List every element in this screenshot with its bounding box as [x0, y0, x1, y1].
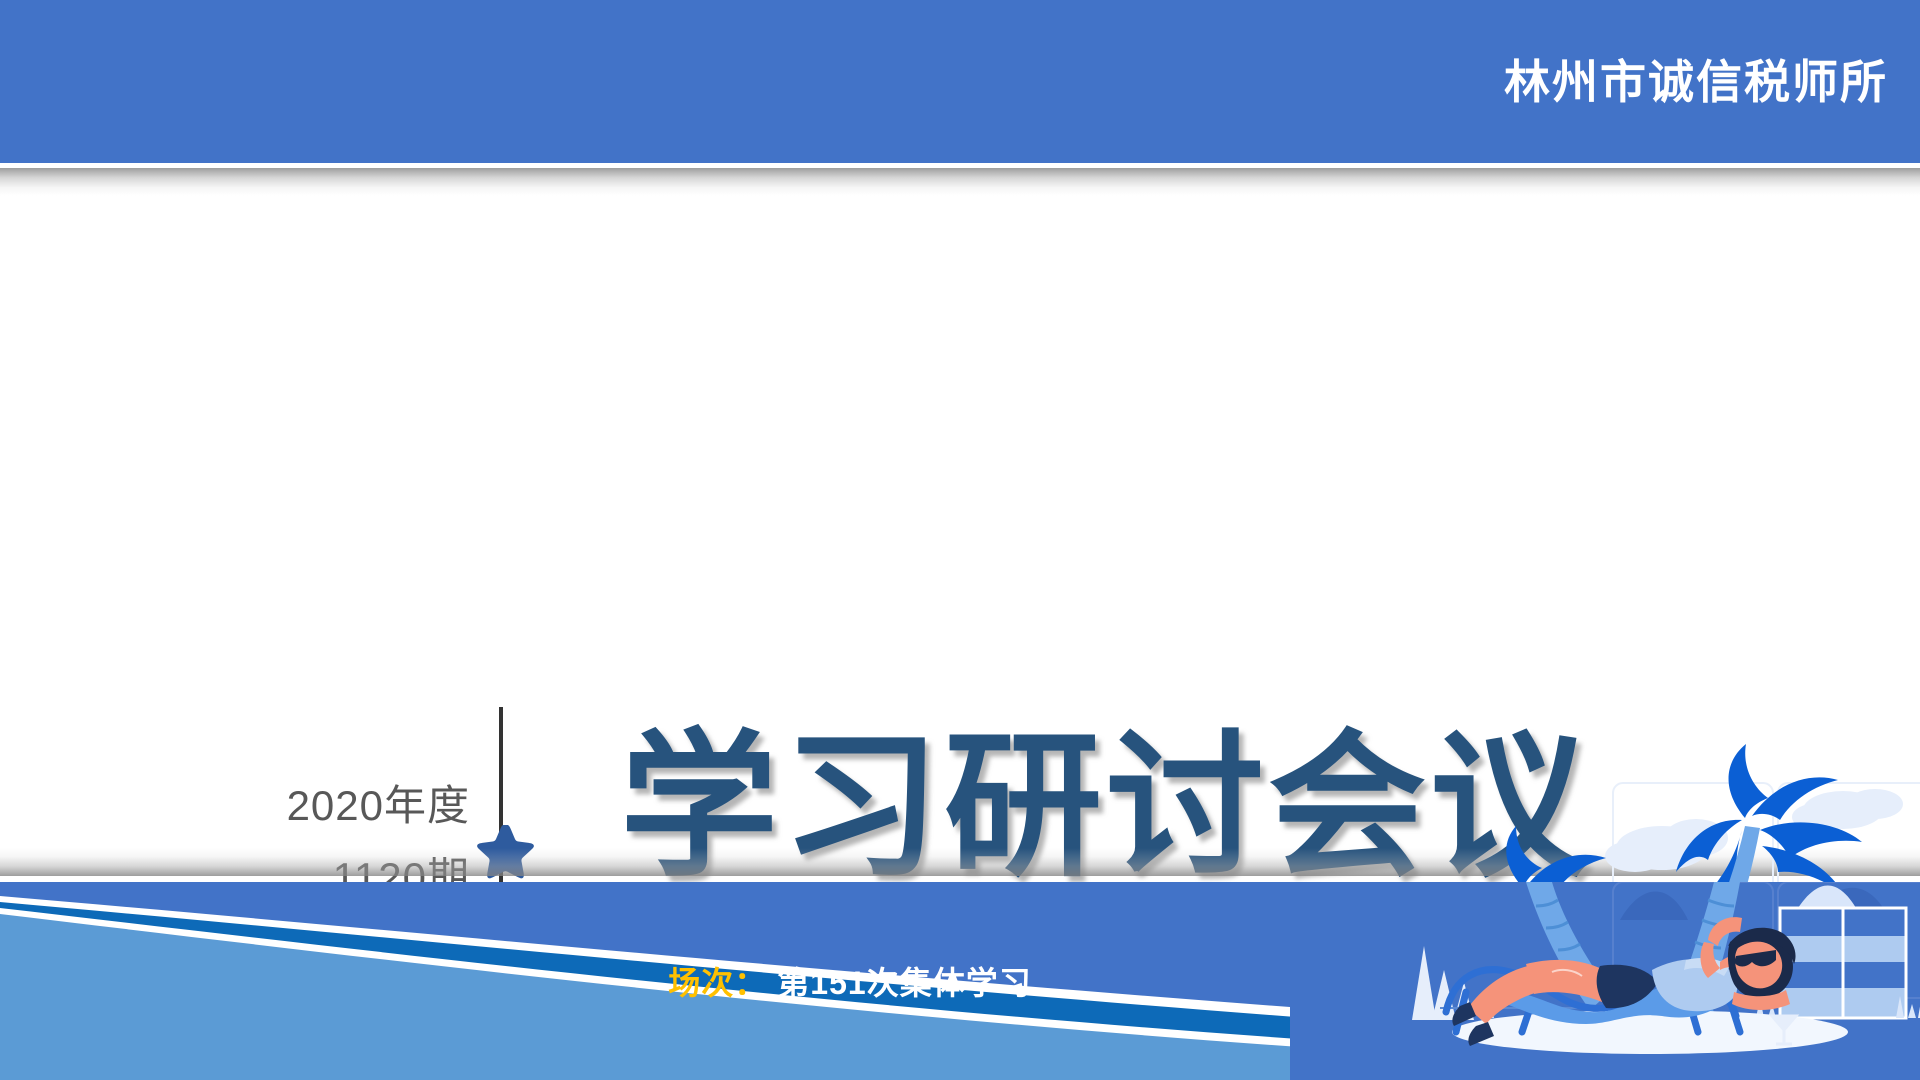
illustration-lower [1290, 882, 1920, 1080]
beach-lounge-illustration [1290, 620, 1920, 1080]
header-bar-shadow [0, 168, 1920, 196]
slide: 林州市诚信税师所 2020年度 1120期 学习研讨会议 [0, 0, 1920, 1080]
session-value: 第151次集体学习 [777, 958, 1031, 1004]
edition-year: 2020年度 [240, 770, 470, 842]
session-label: 场次： [668, 958, 767, 1004]
organization-name: 林州市诚信税师所 [1504, 46, 1888, 112]
header-bar: 林州市诚信税师所 [0, 0, 1920, 163]
